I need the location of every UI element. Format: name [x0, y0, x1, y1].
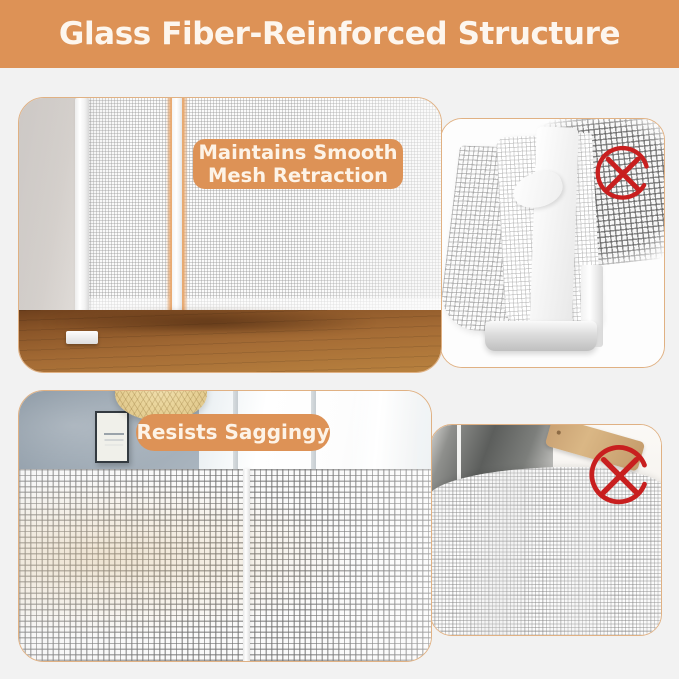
page-title: Glass Fiber-Reinforced Structure — [59, 16, 620, 52]
no-entry-x-icon — [586, 442, 654, 510]
light-glow-overlay — [291, 98, 441, 326]
badge-line-1: Maintains Smooth — [199, 141, 398, 164]
badge-line-1: Resists Saggingy — [136, 421, 329, 445]
framed-picture — [95, 411, 129, 463]
screen-base-housing — [485, 321, 597, 351]
floor-shadow — [44, 308, 374, 332]
mesh-tint-overlay — [19, 469, 431, 661]
side-rail — [75, 98, 89, 334]
badge-maintains-smooth-mesh-retraction: Maintains Smooth Mesh Retraction — [193, 139, 403, 189]
mesh-fold-edge — [529, 126, 578, 341]
center-divider-rail — [243, 469, 250, 661]
badge-line-2: Mesh Retraction — [208, 164, 388, 187]
curtain — [353, 391, 417, 477]
no-entry-x-icon — [592, 143, 654, 205]
product-feature-graphic: Glass Fiber-Reinforced Structure Maintai… — [0, 0, 679, 679]
guide-bar — [172, 98, 182, 336]
badge-resists-saggingy: Resists Saggingy — [136, 414, 330, 451]
rail-foot — [66, 331, 98, 344]
header-band: Glass Fiber-Reinforced Structure — [0, 0, 679, 68]
